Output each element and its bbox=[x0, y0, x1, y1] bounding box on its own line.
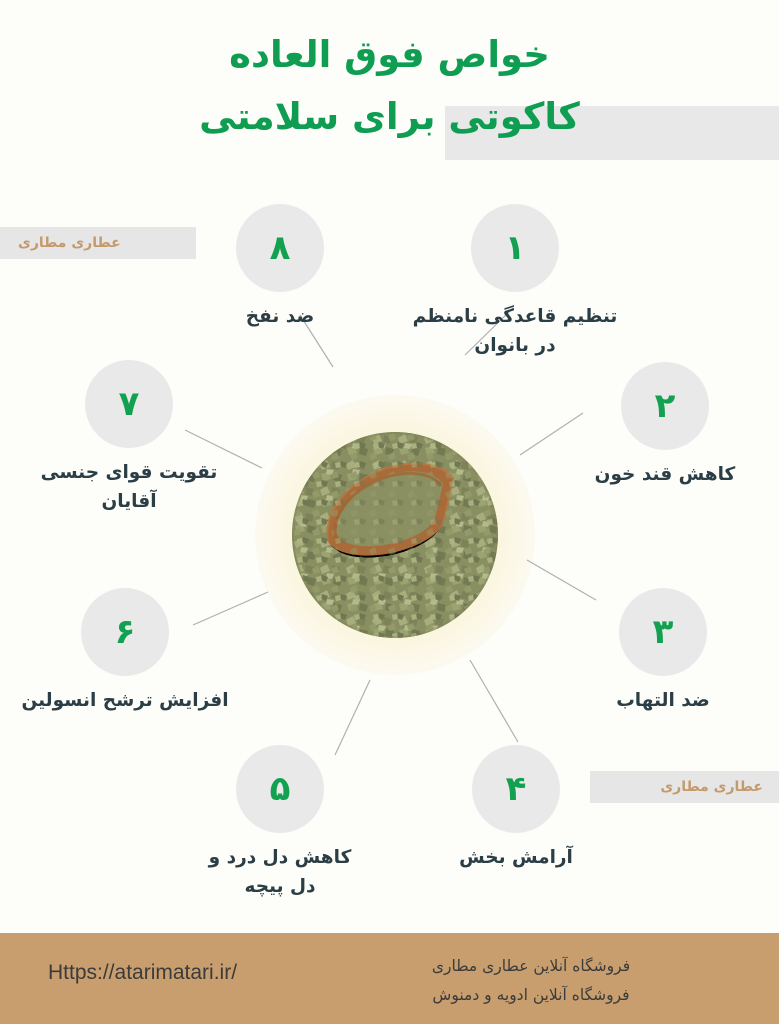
benefit-label-8: ضد نفخ bbox=[155, 302, 405, 331]
benefit-node-1: ۱ تنظیم قاعدگی نامنظم در بانوان bbox=[390, 204, 640, 360]
benefit-node-5: ۵ کاهش دل درد و دل پیچه bbox=[155, 745, 405, 901]
benefit-node-7: ۷ تقویت قوای جنسی آقایان bbox=[4, 360, 254, 516]
benefit-node-3: ۳ ضد التهاب bbox=[538, 588, 779, 715]
benefit-label-1: تنظیم قاعدگی نامنظم در بانوان bbox=[390, 302, 640, 360]
benefit-number-4: ۴ bbox=[506, 772, 527, 806]
benefit-label-5: کاهش دل درد و دل پیچه bbox=[155, 843, 405, 901]
benefit-label-6: افزایش ترشح انسولین bbox=[0, 686, 250, 715]
benefit-label-4: آرامش بخش bbox=[391, 843, 641, 872]
title-line-1: خواص فوق العاده bbox=[0, 24, 779, 86]
footer-line-1: فروشگاه آنلاین عطاری مطاری bbox=[321, 952, 741, 981]
benefit-circle-7: ۷ bbox=[85, 360, 173, 448]
page-title: خواص فوق العاده کاکوتی برای سلامتی bbox=[0, 24, 779, 148]
footer-line-2: فروشگاه آنلاین ادویه و دمنوش bbox=[321, 981, 741, 1010]
infographic-canvas: خواص فوق العاده کاکوتی برای سلامتی عطاری… bbox=[0, 0, 779, 1024]
benefit-number-8: ۸ bbox=[270, 231, 291, 265]
benefit-number-7: ۷ bbox=[119, 387, 140, 421]
benefit-label-3: ضد التهاب bbox=[538, 686, 779, 715]
benefit-number-3: ۳ bbox=[653, 615, 674, 649]
benefit-circle-4: ۴ bbox=[472, 745, 560, 833]
benefit-number-2: ۲ bbox=[655, 389, 676, 423]
benefit-number-6: ۶ bbox=[115, 615, 136, 649]
footer-website-url[interactable]: Https://atarimatari.ir/ bbox=[48, 961, 237, 985]
benefit-node-4: ۴ آرامش بخش bbox=[391, 745, 641, 872]
benefit-circle-1: ۱ bbox=[471, 204, 559, 292]
benefit-number-1: ۱ bbox=[505, 231, 526, 265]
benefit-label-7: تقویت قوای جنسی آقایان bbox=[4, 458, 254, 516]
benefit-circle-2: ۲ bbox=[621, 362, 709, 450]
footer-bar: Https://atarimatari.ir/ فروشگاه آنلاین ع… bbox=[0, 933, 779, 1024]
benefit-node-6: ۶ افزایش ترشح انسولین bbox=[0, 588, 250, 715]
benefit-circle-8: ۸ bbox=[236, 204, 324, 292]
center-product-image bbox=[292, 432, 498, 638]
benefit-label-2: کاهش قند خون bbox=[540, 460, 779, 489]
benefit-circle-3: ۳ bbox=[619, 588, 707, 676]
title-line-2: کاکوتی برای سلامتی bbox=[0, 86, 779, 148]
benefit-node-2: ۲ کاهش قند خون bbox=[540, 362, 779, 489]
benefit-node-8: ۸ ضد نفخ bbox=[155, 204, 405, 331]
benefit-circle-5: ۵ bbox=[236, 745, 324, 833]
benefit-number-5: ۵ bbox=[270, 772, 291, 806]
benefit-circle-6: ۶ bbox=[81, 588, 169, 676]
footer-text-block: فروشگاه آنلاین عطاری مطاری فروشگاه آنلای… bbox=[321, 952, 741, 1010]
